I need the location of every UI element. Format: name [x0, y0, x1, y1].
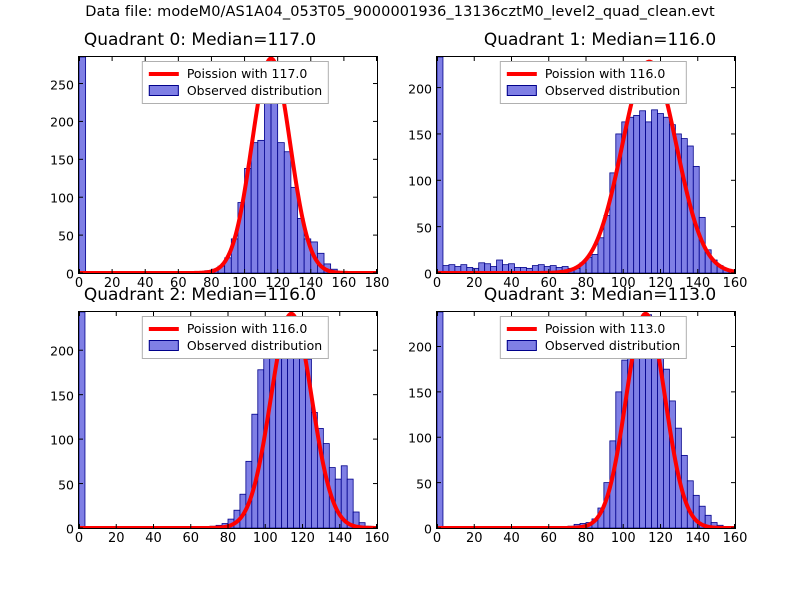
- histogram-bar: [658, 114, 664, 273]
- subplot-quadrant-0: Quadrant 0: Median=117.0 050100150200250…: [0, 30, 400, 305]
- legend-patch-swatch: [149, 340, 179, 351]
- legend-line-swatch: [149, 72, 179, 76]
- histogram-bar: [652, 110, 658, 273]
- histogram-bar: [592, 254, 598, 273]
- x-axis-tick-label: 140: [327, 531, 352, 546]
- x-axis-tick-label: 120: [648, 531, 673, 546]
- y-axis-tick-label: 200: [50, 115, 74, 130]
- plot-area[interactable]: 050100150200250020406080100120140160180P…: [78, 56, 378, 274]
- legend-label: Observed distribution: [545, 83, 680, 98]
- histogram-bar: [663, 117, 669, 273]
- histogram-bar: [681, 139, 687, 273]
- legend[interactable]: Poission with 116.0Observed distribution: [142, 316, 329, 359]
- subplot-quadrant-2: Quadrant 2: Median=116.0 050100150200020…: [0, 285, 400, 560]
- y-axis-tick-label: 250: [50, 77, 74, 92]
- y-axis-tick-label: 200: [50, 344, 74, 359]
- histogram-bar: [640, 111, 646, 273]
- legend-label: Poission with 116.0: [187, 321, 308, 336]
- legend-label: Poission with 117.0: [187, 66, 308, 81]
- subplot-title: Quadrant 3: Median=113.0: [400, 285, 800, 305]
- histogram-bar: [291, 187, 298, 273]
- histogram-bar: [294, 337, 300, 528]
- plot-area[interactable]: 050100150200020406080100120140160Poissio…: [436, 56, 736, 274]
- x-axis-tick-label: 60: [540, 531, 557, 546]
- histogram-bar: [347, 479, 353, 528]
- y-axis-tick-label: 150: [408, 127, 432, 142]
- y-axis-tick-label: 100: [50, 191, 74, 206]
- y-axis-tick-label: 50: [58, 229, 74, 244]
- x-axis-tick-label: 120: [290, 531, 315, 546]
- y-axis-tick-label: 100: [408, 174, 432, 189]
- x-axis-tick-label: 40: [145, 531, 162, 546]
- subplot-title: Quadrant 0: Median=117.0: [0, 30, 400, 50]
- x-axis-tick-label: 40: [503, 531, 520, 546]
- legend-patch-swatch: [149, 85, 179, 96]
- histogram-bar: [258, 140, 265, 273]
- x-axis-tick-label: 160: [365, 531, 390, 546]
- histogram-bar: [437, 312, 443, 528]
- legend-entry: Observed distribution: [149, 82, 322, 99]
- y-axis-tick-label: 200: [408, 340, 432, 355]
- histogram-bar: [300, 343, 306, 528]
- y-axis-tick-label: 0: [424, 267, 432, 282]
- legend[interactable]: Poission with 113.0Observed distribution: [500, 316, 687, 359]
- plot-area[interactable]: 050100150200020406080100120140160Poissio…: [78, 311, 378, 529]
- y-axis-tick-label: 100: [50, 433, 74, 448]
- histogram-bar: [634, 333, 640, 528]
- legend[interactable]: Poission with 116.0Observed distribution: [500, 61, 687, 104]
- y-axis-tick-label: 50: [416, 220, 432, 235]
- y-axis-tick-label: 150: [50, 153, 74, 168]
- histogram-bar: [278, 143, 285, 273]
- legend-entry: Observed distribution: [507, 82, 680, 99]
- legend-patch-swatch: [507, 340, 537, 351]
- legend-entry: Observed distribution: [149, 337, 322, 354]
- histogram-bar: [646, 122, 652, 273]
- x-axis-tick-label: 20: [466, 531, 483, 546]
- x-axis-tick-label: 100: [611, 531, 636, 546]
- x-axis-tick-label: 80: [220, 531, 237, 546]
- y-axis-tick-label: 200: [408, 81, 432, 96]
- legend-line-swatch: [149, 327, 179, 331]
- y-axis-tick-label: 50: [416, 476, 432, 491]
- histogram-bar: [264, 99, 271, 273]
- x-axis-tick-label: 140: [685, 531, 710, 546]
- legend-entry: Poission with 116.0: [149, 320, 322, 337]
- x-axis-tick-label: 0: [433, 531, 441, 546]
- legend-entry: Poission with 116.0: [507, 65, 680, 82]
- legend-line-swatch: [507, 327, 537, 331]
- histogram-bar: [284, 152, 291, 273]
- y-axis-tick-label: 0: [66, 267, 74, 282]
- histogram-bar: [251, 143, 258, 273]
- y-axis-tick-label: 100: [408, 431, 432, 446]
- x-axis-tick-label: 100: [253, 531, 278, 546]
- legend-label: Poission with 116.0: [545, 66, 666, 81]
- subplot-quadrant-3: Quadrant 3: Median=113.0 050100150200020…: [400, 285, 800, 560]
- histogram-bar: [437, 57, 443, 273]
- y-axis-tick-label: 150: [50, 388, 74, 403]
- histogram-bar: [669, 125, 675, 273]
- subplot-quadrant-1: Quadrant 1: Median=116.0 050100150200020…: [400, 30, 800, 305]
- legend-label: Observed distribution: [187, 338, 322, 353]
- x-axis-tick-label: 0: [75, 531, 83, 546]
- subplot-title: Quadrant 1: Median=116.0: [400, 30, 800, 50]
- legend-entry: Poission with 117.0: [149, 65, 322, 82]
- legend-label: Poission with 113.0: [545, 321, 666, 336]
- y-axis-tick-label: 0: [424, 522, 432, 537]
- y-axis-tick-label: 150: [408, 385, 432, 400]
- histogram-bar: [628, 117, 634, 273]
- legend-entry: Observed distribution: [507, 337, 680, 354]
- figure-canvas: Data file: modeM0/AS1A04_053T05_90000019…: [0, 0, 800, 600]
- x-axis-tick-label: 80: [578, 531, 595, 546]
- y-axis-tick-label: 0: [66, 522, 74, 537]
- histogram-bar: [79, 312, 85, 528]
- plot-area[interactable]: 050100150200020406080100120140160Poissio…: [436, 311, 736, 529]
- histogram-bar: [598, 238, 604, 273]
- legend-label: Observed distribution: [545, 338, 680, 353]
- x-axis-tick-label: 20: [108, 531, 125, 546]
- histogram-bar: [634, 115, 640, 273]
- histogram-bar: [271, 97, 278, 273]
- legend-line-swatch: [507, 72, 537, 76]
- subplot-title: Quadrant 2: Median=116.0: [0, 285, 400, 305]
- histogram-bar: [79, 57, 86, 273]
- legend-entry: Poission with 113.0: [507, 320, 680, 337]
- x-axis-tick-label: 60: [182, 531, 199, 546]
- y-axis-tick-label: 50: [58, 477, 74, 492]
- legend-patch-swatch: [507, 85, 537, 96]
- figure-title: Data file: modeM0/AS1A04_053T05_90000019…: [0, 4, 800, 20]
- legend-label: Observed distribution: [187, 83, 322, 98]
- legend[interactable]: Poission with 117.0Observed distribution: [142, 61, 329, 104]
- x-axis-tick-label: 160: [723, 531, 748, 546]
